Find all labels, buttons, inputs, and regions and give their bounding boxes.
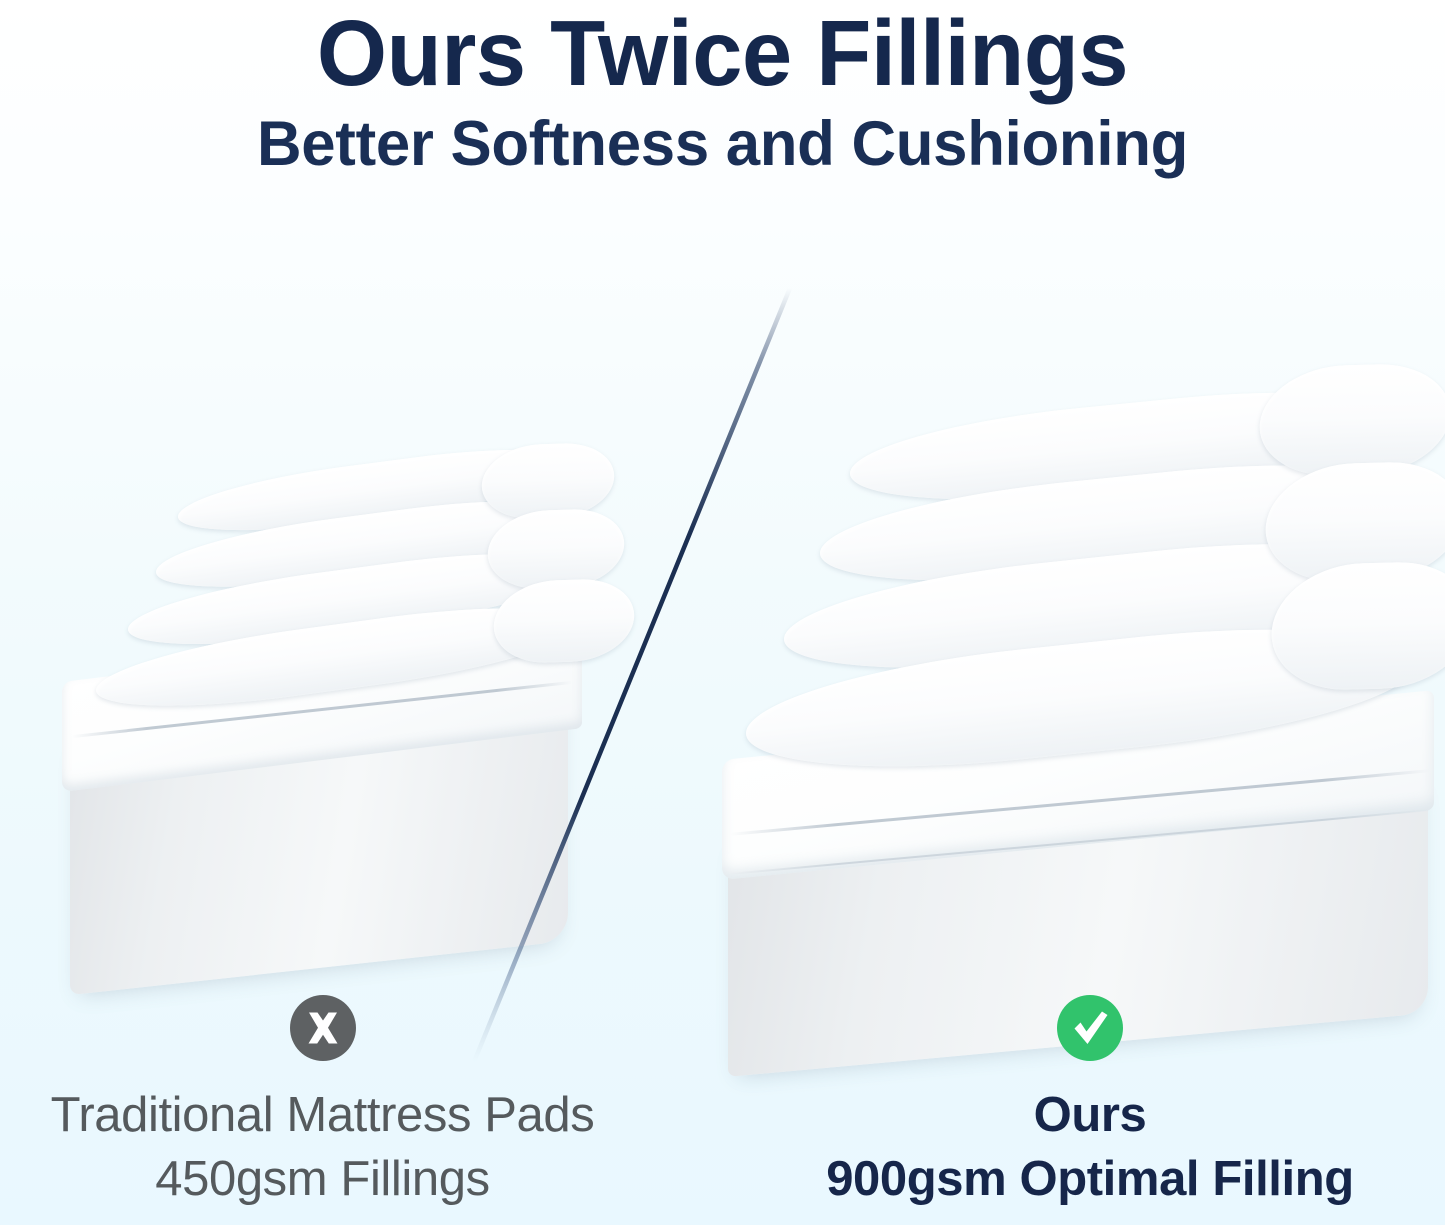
ours-mattress-image [700,325,1445,1015]
verdict-traditional: Traditional Mattress Pads 450gsm Filling… [0,995,645,1209]
page-title: Ours Twice Fillings [22,0,1424,101]
ours-label-line1: Ours [770,1061,1410,1145]
traditional-label-line1: Traditional Mattress Pads [0,1061,645,1145]
traditional-label-line2: 450gsm Fillings [0,1145,645,1209]
quilt-row [1253,362,1445,477]
headline-block: Ours Twice Fillings Better Softness and … [0,0,1445,177]
check-circle-icon [1057,995,1123,1061]
x-circle-icon [290,995,356,1061]
product-comparison-infographic: Ours Twice Fillings Better Softness and … [0,0,1445,1225]
product-photo-area [0,215,1445,1025]
verdict-ours: Ours 900gsm Optimal Filling [770,995,1410,1209]
page-subtitle: Better Softness and Cushioning [14,101,1430,177]
ours-label-line2: 900gsm Optimal Filling [770,1145,1410,1209]
traditional-mattress-image [52,410,642,980]
